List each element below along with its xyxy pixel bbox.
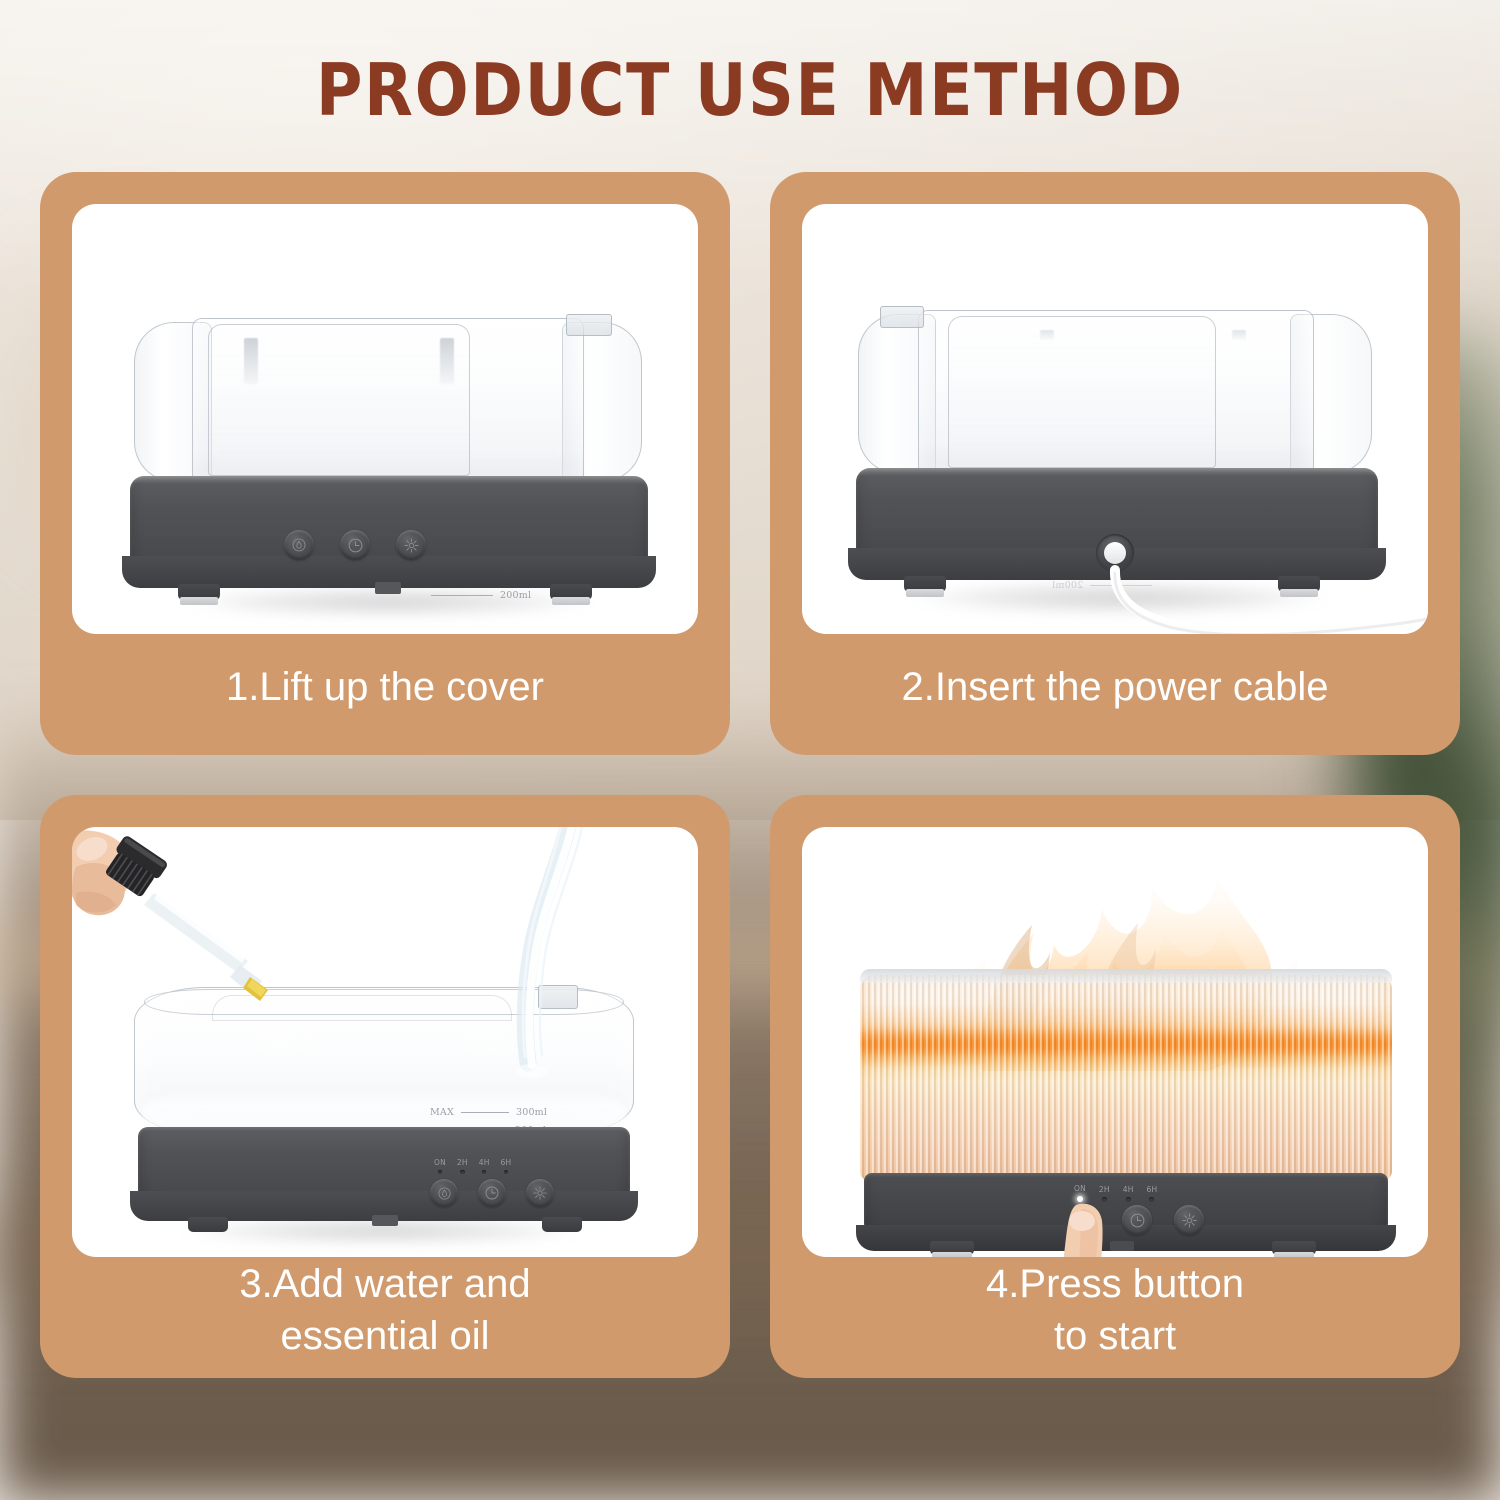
led-label-on: ON	[434, 1159, 446, 1167]
step-1-caption: 1.Lift up the cover	[40, 634, 730, 755]
light-button[interactable]	[526, 1179, 554, 1207]
scale-line-200	[431, 595, 493, 596]
base-center-notch	[372, 1215, 398, 1226]
led-item-on: ON	[434, 1159, 446, 1174]
step-card-2: MAX 300ml 200ml	[770, 172, 1460, 755]
led-item-4h: 4H	[479, 1159, 490, 1174]
flute-texture	[860, 975, 1392, 1181]
clock-icon	[484, 1185, 500, 1201]
led-label-4h: 4H	[479, 1159, 490, 1167]
led-dot-4h	[482, 1170, 487, 1175]
pressing-finger	[1038, 1199, 1298, 1257]
device-foot-pad-left	[180, 597, 218, 605]
light-button[interactable]	[396, 530, 426, 560]
control-button-row	[430, 1179, 554, 1207]
led-indicator-row: ON 2H 4H 6H	[434, 1159, 511, 1174]
sunburst-icon	[532, 1185, 548, 1201]
base-center-notch	[375, 582, 401, 594]
step-card-3: MAX 300ml 200ml ON 2H 4H 6H	[40, 795, 730, 1378]
led-item-6h: 6H	[501, 1159, 512, 1174]
led-dot-on	[438, 1170, 443, 1175]
step-2-photo-panel: MAX 300ml 200ml	[802, 204, 1428, 634]
device-base-top-edge	[130, 476, 648, 484]
droplet-icon	[291, 537, 307, 553]
led-label-4h: 4H	[1123, 1186, 1134, 1194]
cover-top-rim	[860, 969, 1392, 983]
device-foot-left	[188, 1217, 228, 1232]
essential-oil-dropper	[72, 827, 352, 1057]
timer-button[interactable]	[478, 1179, 506, 1207]
led-label-2h: 2H	[1099, 1186, 1110, 1194]
scale-label-200ml: 200ml	[500, 590, 531, 601]
step-card-4: ON 2H 4H 6H	[770, 795, 1460, 1378]
page-title: PRODUCT USE METHOD	[90, 48, 1410, 132]
mist-button[interactable]	[284, 530, 314, 560]
step-3-photo-panel: MAX 300ml 200ml ON 2H 4H 6H	[72, 827, 698, 1257]
step-2-caption: 2.Insert the power cable	[770, 634, 1460, 755]
tank-spout	[566, 314, 612, 336]
water-stream	[412, 827, 672, 1137]
steps-grid: MAX 300ml 200ml	[40, 172, 1460, 1460]
power-cable	[802, 204, 1428, 634]
mist-button[interactable]	[430, 1179, 458, 1207]
device-foot-right	[542, 1217, 582, 1232]
device-foot-pad-left	[932, 1252, 972, 1257]
led-label-6h: 6H	[501, 1159, 512, 1167]
step-1-photo-panel: MAX 300ml 200ml	[72, 204, 698, 634]
step-card-1: MAX 300ml 200ml	[40, 172, 730, 755]
sunburst-icon	[403, 537, 420, 554]
droplet-icon	[437, 1186, 452, 1201]
led-dot-6h	[504, 1170, 509, 1175]
clock-icon	[347, 537, 364, 554]
led-dot-2h	[460, 1170, 465, 1175]
step-4-caption: 4.Press button to start	[770, 1257, 1460, 1378]
led-label-2h: 2H	[457, 1159, 468, 1167]
fluted-flame-cover	[860, 975, 1392, 1181]
led-label-6h: 6H	[1147, 1186, 1158, 1194]
step-4-photo-panel: ON 2H 4H 6H	[802, 827, 1428, 1257]
led-item-2h: 2H	[457, 1159, 468, 1174]
device-foot-pad-right	[552, 597, 590, 605]
mist-outlet-right	[440, 338, 454, 384]
scale-row-200: 200ml	[400, 590, 531, 601]
step-3-caption: 3.Add water and essential oil	[40, 1257, 730, 1378]
led-label-on: ON	[1074, 1185, 1086, 1193]
control-button-row	[284, 530, 426, 560]
timer-button[interactable]	[340, 530, 370, 560]
mist-outlet-left	[244, 338, 258, 384]
